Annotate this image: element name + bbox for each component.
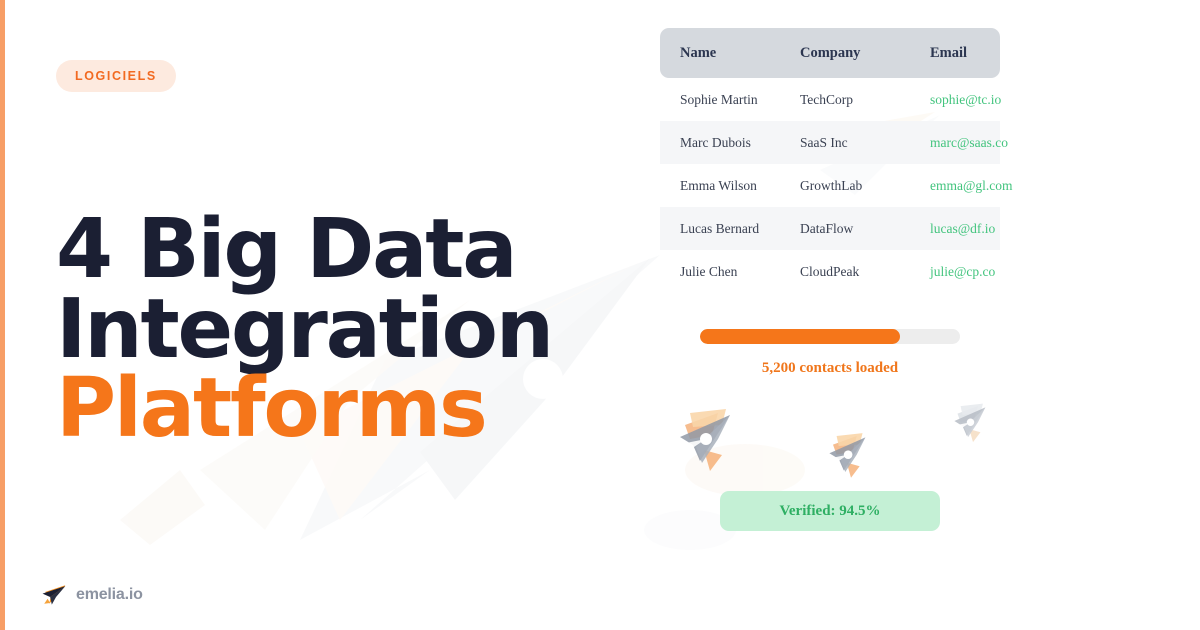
left-accent-stripe	[0, 0, 5, 630]
contacts-progress: 5,200 contacts loaded	[700, 329, 960, 377]
cell-email: sophie@tc.io	[930, 92, 1050, 108]
category-badge: LOGICIELS	[56, 60, 176, 92]
cell-name: Julie Chen	[680, 264, 800, 280]
brand-logo-text: emelia.io	[76, 586, 143, 604]
table-row: Julie Chen CloudPeak julie@cp.co	[660, 250, 1000, 293]
cell-email: marc@saas.co	[930, 135, 1050, 151]
cell-name: Marc Dubois	[680, 135, 800, 151]
headline-line-3-accent: Platforms	[56, 369, 616, 449]
cell-company: SaaS Inc	[800, 135, 930, 151]
headline-line-2: Integration	[56, 290, 616, 370]
progress-fill	[700, 329, 900, 344]
table-row: Lucas Bernard DataFlow lucas@df.io	[660, 207, 1000, 250]
cell-company: DataFlow	[800, 221, 930, 237]
hero-left-column: LOGICIELS 4 Big Data Integration Platfor…	[56, 0, 656, 630]
cell-name: Sophie Martin	[680, 92, 800, 108]
cell-email: julie@cp.co	[930, 264, 1050, 280]
table-header-row: Name Company Email	[660, 28, 1000, 78]
table-row: Sophie Martin TechCorp sophie@tc.io	[660, 78, 1000, 121]
cell-name: Lucas Bernard	[680, 221, 800, 237]
verified-badge: Verified: 94.5%	[720, 491, 940, 531]
progress-label: 5,200 contacts loaded	[700, 360, 960, 377]
column-header-company: Company	[800, 45, 930, 62]
column-header-email: Email	[930, 45, 1050, 62]
table-row: Emma Wilson GrowthLab emma@gl.com	[660, 164, 1000, 207]
paper-plane-icon	[40, 581, 67, 608]
column-header-name: Name	[680, 45, 800, 62]
floating-paper-plane-icons	[660, 395, 1020, 485]
cell-company: CloudPeak	[800, 264, 930, 280]
cell-email: emma@gl.com	[930, 178, 1050, 194]
headline-line-1: 4 Big Data	[56, 210, 616, 290]
brand-logo: emelia.io	[40, 581, 143, 608]
progress-track	[700, 329, 960, 344]
cell-company: GrowthLab	[800, 178, 930, 194]
cell-name: Emma Wilson	[680, 178, 800, 194]
cell-email: lucas@df.io	[930, 221, 1050, 237]
contacts-table: Name Company Email Sophie Martin TechCor…	[660, 28, 1000, 293]
page-title: 4 Big Data Integration Platforms	[56, 210, 616, 449]
cell-company: TechCorp	[800, 92, 930, 108]
table-row: Marc Dubois SaaS Inc marc@saas.co	[660, 121, 1000, 164]
poster-canvas: LOGICIELS 4 Big Data Integration Platfor…	[0, 0, 1200, 630]
